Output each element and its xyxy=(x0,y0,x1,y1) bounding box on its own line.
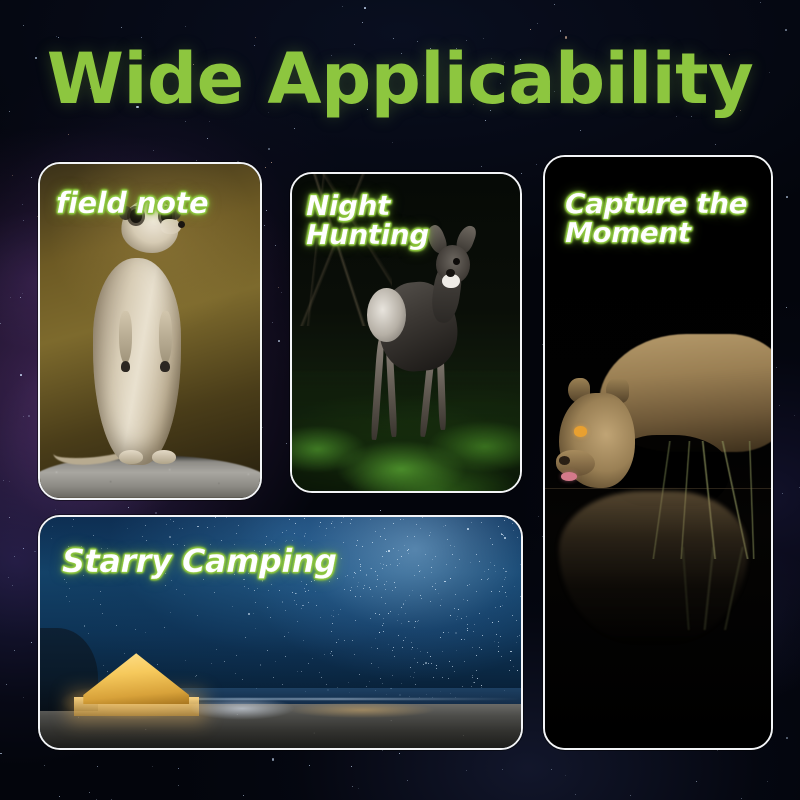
deer-rump xyxy=(367,288,406,342)
meerkat-foot-left xyxy=(119,450,143,464)
meerkat-paw-left xyxy=(121,361,131,372)
card-label-starry-camping: Starry Camping xyxy=(62,545,336,578)
camp-light-glow xyxy=(189,697,295,720)
card-starry-camping[interactable]: Starry Camping xyxy=(38,515,523,750)
deer-eye xyxy=(453,258,460,265)
shore-light-glow xyxy=(290,702,434,718)
water-surface-line xyxy=(545,488,771,489)
lion-tongue xyxy=(561,472,577,481)
lion-eye xyxy=(574,426,586,436)
meerkat-foot-right xyxy=(152,450,176,464)
meerkat-nose xyxy=(178,221,185,228)
card-night-hunting[interactable]: Night Hunting xyxy=(290,172,522,493)
card-label-night-hunting: Night Hunting xyxy=(306,192,520,249)
lion-nose xyxy=(559,456,570,465)
capture-label-line-2: Moment xyxy=(565,216,691,249)
reeds-reflection xyxy=(649,547,771,630)
card-field-note[interactable]: field note xyxy=(38,162,262,500)
moss-ground xyxy=(292,371,520,491)
meerkat-paw-right xyxy=(160,361,170,372)
page-title: Wide Applicability xyxy=(0,44,800,114)
card-label-field-note: field note xyxy=(56,189,208,219)
card-label-capture-the-moment: Capture theMoment xyxy=(565,190,747,247)
card-capture-the-moment[interactable]: Capture theMoment xyxy=(543,155,773,750)
poster-canvas: Wide Applicability field note xyxy=(0,0,800,800)
meerkat-arm-right xyxy=(159,311,172,364)
